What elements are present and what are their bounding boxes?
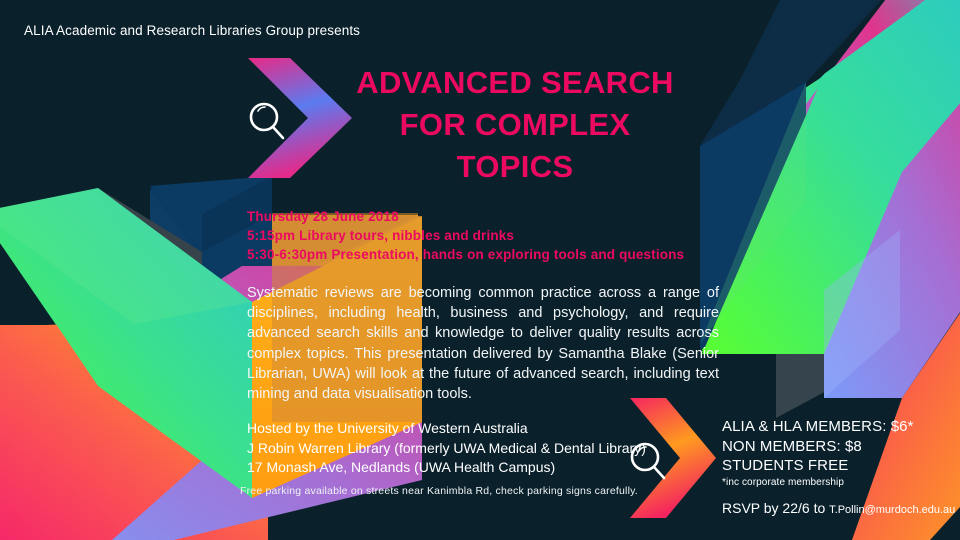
price-members: ALIA & HLA MEMBERS: $6* (722, 417, 914, 437)
title-line-1: ADVANCED SEARCH (330, 62, 700, 104)
event-date: Thursday 28 June 2018 (247, 207, 684, 226)
event-session-2: 5:30-6:30pm Presentation, hands on explo… (247, 245, 684, 264)
title-line-3: TOPICS (330, 146, 700, 188)
rsvp-line: RSVP by 22/6 to T.Pollin@murdoch.edu.au (722, 500, 955, 516)
pricing-details: ALIA & HLA MEMBERS: $6* NON MEMBERS: $8 … (722, 417, 914, 490)
rsvp-email[interactable]: T.Pollin@murdoch.edu.au (829, 504, 955, 516)
venue-host: Hosted by the University of Western Aust… (247, 419, 646, 439)
venue-details: Hosted by the University of Western Aust… (247, 419, 646, 478)
parking-note: Free parking available on streets near K… (240, 485, 638, 497)
price-students: STUDENTS FREE (722, 456, 914, 476)
venue-library: J Robin Warren Library (formerly UWA Med… (247, 439, 646, 459)
poster-text-layer: ALIA Academic and Research Libraries Gro… (0, 0, 960, 540)
event-schedule: Thursday 28 June 2018 5:15pm Library tou… (247, 207, 684, 264)
rsvp-prefix: RSVP by 22/6 to (722, 500, 829, 516)
event-description: Systematic reviews are becoming common p… (247, 283, 719, 404)
price-footnote: *inc corporate membership (722, 476, 914, 490)
price-non-members: NON MEMBERS: $8 (722, 437, 914, 457)
title-line-2: FOR COMPLEX (330, 104, 700, 146)
presents-line: ALIA Academic and Research Libraries Gro… (24, 23, 360, 38)
page-title: ADVANCED SEARCH FOR COMPLEX TOPICS (330, 62, 700, 188)
event-poster: ALIA Academic and Research Libraries Gro… (0, 0, 960, 540)
venue-address: 17 Monash Ave, Nedlands (UWA Health Camp… (247, 458, 646, 478)
event-session-1: 5:15pm Library tours, nibbles and drinks (247, 226, 684, 245)
